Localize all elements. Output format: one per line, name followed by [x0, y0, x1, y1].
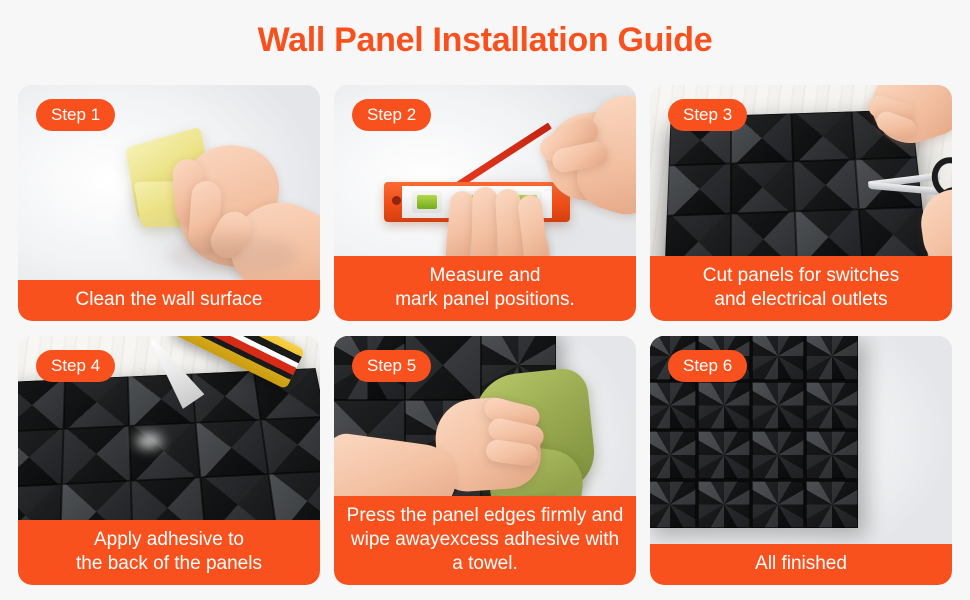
step-card-5[interactable]: Step 5 Press the panel edges firmly and …	[334, 336, 636, 585]
step-caption-5-line-2: wipe awayexcess adhesive with	[340, 528, 630, 552]
step-caption-2-line-2: mark panel positions.	[340, 288, 630, 312]
step-card-4[interactable]: Step 4 Apply adhesive to the back of the…	[18, 336, 320, 585]
step-caption-3: Cut panels for switches and electrical o…	[650, 256, 952, 321]
step-caption-3-line-1: Cut panels for switches	[656, 264, 946, 288]
step-caption-6: All finished	[650, 544, 952, 585]
step-card-3[interactable]: Step 3 Cut panels for switches and elect…	[650, 85, 952, 321]
step-badge-6: Step 6	[668, 350, 747, 382]
installation-guide-page: Wall Panel Installation Guide Step 1 Cle…	[0, 0, 970, 600]
step-badge-3: Step 3	[668, 99, 747, 131]
step-caption-4-line-2: the back of the panels	[24, 552, 314, 576]
level-screw	[392, 196, 401, 205]
step-caption-2-line-1: Measure and	[340, 264, 630, 288]
step-badge-2: Step 2	[352, 99, 431, 131]
steps-grid: Step 1 Clean the wall surface	[18, 85, 952, 585]
step-caption-1: Clean the wall surface	[18, 280, 320, 321]
step-caption-5-line-3: a towel.	[340, 552, 630, 576]
step-caption-6-line-1: All finished	[656, 552, 946, 576]
step-caption-1-line-1: Clean the wall surface	[24, 288, 314, 312]
step-badge-1: Step 1	[36, 99, 115, 131]
step-caption-2: Measure and mark panel positions.	[334, 256, 636, 321]
page-title: Wall Panel Installation Guide	[0, 18, 970, 62]
step-caption-4: Apply adhesive to the back of the panels	[18, 520, 320, 585]
step-badge-5: Step 5	[352, 350, 431, 382]
step-card-1[interactable]: Step 1 Clean the wall surface	[18, 85, 320, 321]
hand-soft-shadow	[168, 235, 298, 275]
adhesive-bead	[136, 434, 162, 448]
step-caption-5: Press the panel edges firmly and wipe aw…	[334, 496, 636, 585]
step-card-6[interactable]: Step 6 All finished	[650, 336, 952, 585]
step-badge-4: Step 4	[36, 350, 115, 382]
step-card-2[interactable]: Step 2 Measure and mark panel positions.	[334, 85, 636, 321]
step-caption-5-line-1: Press the panel edges firmly and	[340, 504, 630, 528]
step-caption-4-line-1: Apply adhesive to	[24, 528, 314, 552]
level-vial-left	[412, 191, 442, 213]
step-caption-3-line-2: and electrical outlets	[656, 288, 946, 312]
